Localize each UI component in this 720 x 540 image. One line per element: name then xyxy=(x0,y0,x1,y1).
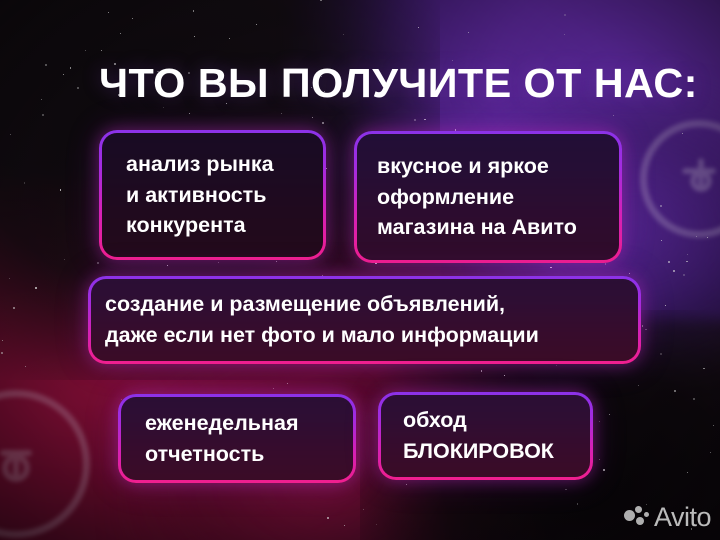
feature-box-weekly-report[interactable]: еженедельная отчетность xyxy=(118,394,356,483)
feature-box-block-bypass[interactable]: обход БЛОКИРОВОК xyxy=(378,392,593,480)
feature-box-market-analysis[interactable]: анализ рынка и активность конкурента xyxy=(99,130,326,260)
avito-dots-icon xyxy=(624,506,650,530)
feature-box-listings[interactable]: создание и размещение объявлений, даже е… xyxy=(88,276,641,364)
feature-box-shop-design[interactable]: вкусное и яркое оформление магазина на А… xyxy=(354,131,622,263)
feature-box-weekly-report-label: еженедельная отчетность xyxy=(121,408,299,469)
feature-box-shop-design-label: вкусное и яркое оформление магазина на А… xyxy=(357,151,577,243)
avito-wordmark: Avito xyxy=(654,504,711,531)
feature-box-market-analysis-label: анализ рынка и активность конкурента xyxy=(102,149,274,241)
page-title: ЧТО ВЫ ПОЛУЧИТЕ ОТ НАС: xyxy=(99,62,698,105)
avito-logo: Avito xyxy=(624,504,711,531)
feature-box-block-bypass-label: обход БЛОКИРОВОК xyxy=(381,405,554,466)
poster-canvas: ЧТО ВЫ ПОЛУЧИТЕ ОТ НАС: анализ рынка и а… xyxy=(0,0,720,540)
feature-box-listings-label: создание и размещение объявлений, даже е… xyxy=(91,289,539,351)
